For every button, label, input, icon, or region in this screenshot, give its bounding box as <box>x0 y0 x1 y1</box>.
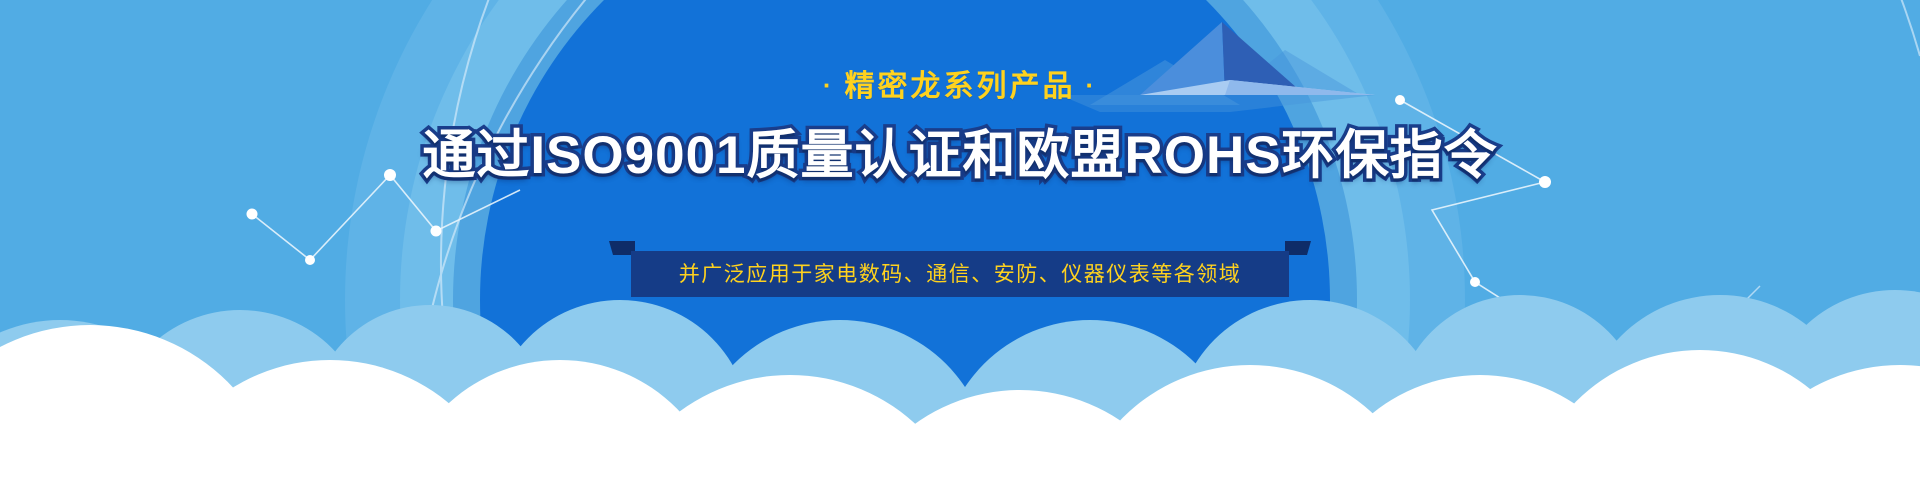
promo-banner: ·精密龙系列产品· 通过ISO9001质量认证和欧盟ROHS环保指令 并广泛应用… <box>0 0 1920 480</box>
cloud-layers <box>0 0 1920 480</box>
